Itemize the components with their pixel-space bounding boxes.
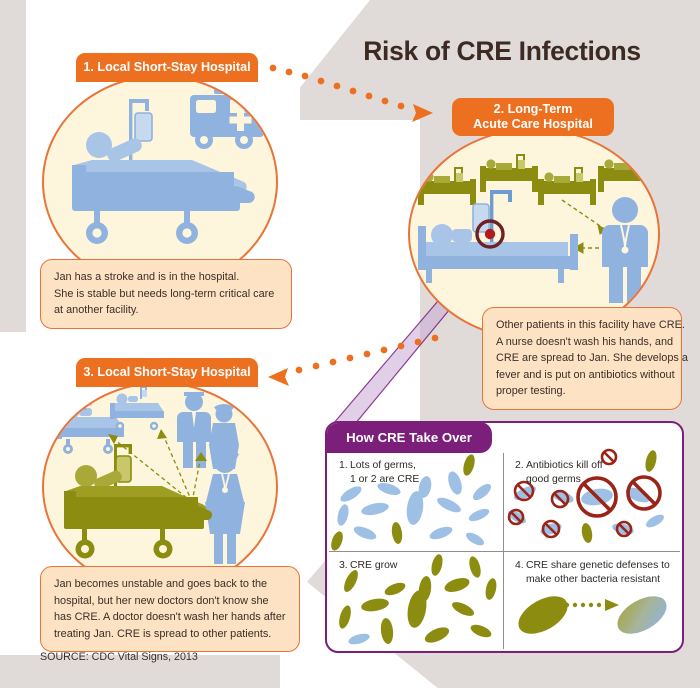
- resistant-germ-recipient: [611, 589, 673, 642]
- gene-transfer-arrow: [565, 599, 619, 611]
- caption-line: A nurse doesn't wash his hands, and: [496, 334, 669, 351]
- quadrant-2-line1: Antibiotics kill off: [526, 460, 603, 471]
- cre-germ-donor: [512, 589, 574, 642]
- quadrant-1-lots-of-germs: 1.Lots of germs, 1 or 2 are CRE: [329, 453, 503, 551]
- panel1-illustration: [44, 77, 276, 287]
- caption-line: She is stable but needs long-term critic…: [54, 286, 279, 303]
- panel2-tab-label-line1: 2. Long-Term: [494, 102, 573, 116]
- cre-box-header: How CRE Take Over: [326, 422, 492, 453]
- quadrant-4-number: 4.: [515, 559, 526, 573]
- panel3-caption: Jan becomes unstable and goes back to th…: [40, 566, 300, 652]
- panel1-tab-label: 1. Local Short-Stay Hospital: [83, 60, 250, 75]
- background-gray-left-strip: [0, 0, 26, 332]
- caption-line: Jan becomes unstable and goes back to th…: [54, 576, 287, 593]
- quadrant-1-line2: 1 or 2 are CRE: [339, 473, 419, 487]
- transmission-arrows: [562, 200, 606, 253]
- patient-figure-blue: [86, 132, 142, 162]
- caption-line: Other patients in this facility have CRE…: [496, 317, 669, 334]
- quadrant-1-label: 1.Lots of germs, 1 or 2 are CRE: [339, 459, 419, 486]
- quadrant-3-cre-grow: 3.CRE grow: [329, 553, 503, 649]
- arrow-panel2-to-panel3: [250, 330, 450, 390]
- infographic-canvas: Risk of CRE Infections: [0, 0, 700, 688]
- panel3-illustration: [44, 384, 276, 590]
- quadrant-1-line1: Lots of germs,: [350, 460, 416, 471]
- source-note: SOURCE: CDC Vital Signs, 2013: [40, 651, 198, 663]
- how-cre-take-over-box: How CRE Take Over 1.Lots of germs, 1 or …: [325, 421, 684, 653]
- caption-line: has CRE. A doctor doesn't wash her hands…: [54, 609, 287, 626]
- caption-line: treating Jan. CRE is spread to other pat…: [54, 626, 287, 643]
- doctor-figure-blue: [602, 197, 648, 303]
- quadrant-2-antibiotics-kill-germs: 2.Antibiotics kill off good germs: [505, 425, 680, 551]
- panel3-tab[interactable]: 3. Local Short-Stay Hospital: [76, 358, 258, 387]
- arrow-panel1-to-panel2: [265, 60, 445, 140]
- panel2-caption: Other patients in this facility have CRE…: [482, 307, 682, 410]
- quadrant-3-line1: CRE grow: [350, 560, 397, 571]
- quadrant-2-germs: [505, 425, 680, 551]
- gurney-blue: [72, 160, 255, 244]
- caption-line: at another facility.: [54, 302, 279, 319]
- quadrant-4-line2: make other bacteria resistant: [515, 573, 670, 587]
- gurney-blue-small-left: [56, 392, 124, 454]
- gurney-blue-small-top: [110, 386, 164, 430]
- quadrant-2-label: 2.Antibiotics kill off good germs: [515, 459, 603, 486]
- iv-stand-icon: [129, 99, 152, 165]
- quadrant-3-label: 3.CRE grow: [339, 559, 397, 573]
- quadrant-divider-horizontal: [329, 551, 680, 552]
- quadrant-3-number: 3.: [339, 559, 350, 573]
- quadrant-4-label: 4.CRE share genetic defenses to make oth…: [515, 559, 670, 586]
- quadrant-4-cre-share-genes: 4.CRE share genetic defenses to make oth…: [505, 553, 680, 649]
- quadrant-2-number: 2.: [515, 459, 526, 473]
- nurse-figure-blue: [205, 450, 245, 564]
- caption-line: CRE are spread to Jan. She develops a: [496, 350, 669, 367]
- susceptible-germ-blue: [347, 632, 371, 647]
- caption-line: hospital, but her new doctors don't know…: [54, 593, 287, 610]
- page-title: Risk of CRE Infections: [322, 36, 682, 67]
- panel3-circle: [42, 382, 278, 592]
- panel1-caption: Jan has a stroke and is in the hospital.…: [40, 259, 292, 329]
- panel1-tab[interactable]: 1. Local Short-Stay Hospital: [76, 53, 258, 82]
- patient-on-gurney-olive: [64, 465, 212, 559]
- quadrant-1-number: 1.: [339, 459, 350, 473]
- cre-box-header-label: How CRE Take Over: [346, 430, 472, 445]
- caption-line: fever and is put on antibiotics without: [496, 367, 669, 384]
- quadrant-4-line1: CRE share genetic defenses to: [526, 560, 670, 571]
- patient-bed-blue: [418, 224, 578, 283]
- panel2-tab-label-line2: Acute Care Hospital: [473, 117, 593, 131]
- panel2-tab[interactable]: 2. Long-Term Acute Care Hospital: [452, 98, 614, 136]
- panel1-circle: [42, 75, 278, 289]
- caption-line: proper testing.: [496, 383, 669, 400]
- quadrant-2-line2: good germs: [515, 473, 603, 487]
- hospital-beds-olive: [418, 154, 654, 205]
- panel3-tab-label: 3. Local Short-Stay Hospital: [83, 365, 250, 380]
- caption-line: Jan has a stroke and is in the hospital.: [54, 269, 279, 286]
